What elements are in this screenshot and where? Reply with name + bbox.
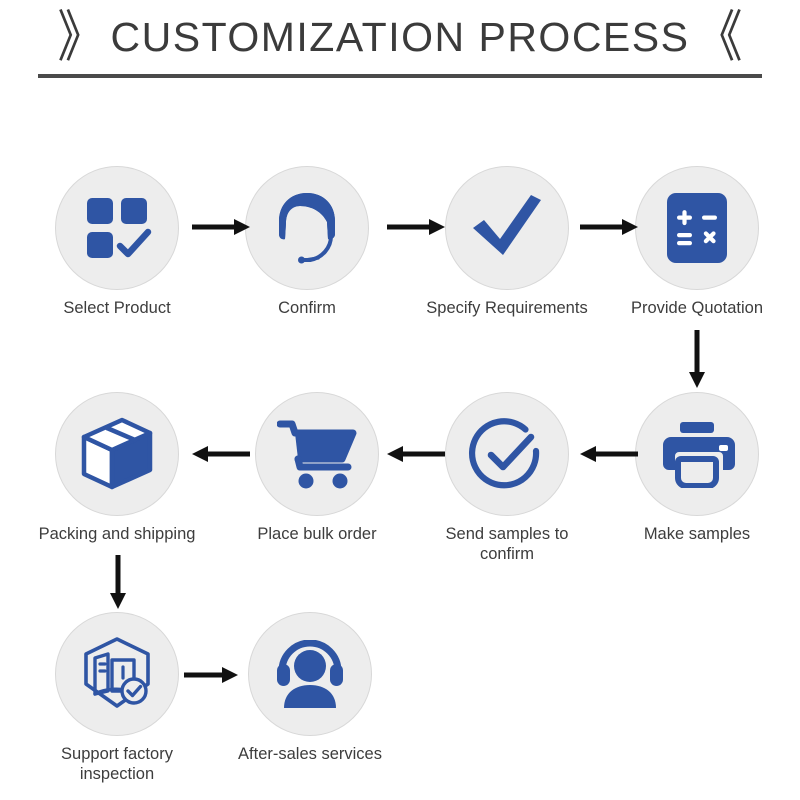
- arrow-step5-step6: [578, 443, 640, 465]
- step-label: Packing and shipping: [32, 524, 202, 544]
- step-label: After-sales services: [225, 744, 395, 764]
- arrow-step6-step7: [385, 443, 447, 465]
- step-badge: [635, 166, 759, 290]
- step-label: Support factory inspection: [32, 744, 202, 784]
- shopping-cart-icon: [277, 419, 357, 489]
- step-label: Select Product: [32, 298, 202, 318]
- step-badge: [55, 612, 179, 736]
- step-badge: [245, 166, 369, 290]
- circle-check-icon: [468, 415, 546, 493]
- checkmark-icon: [469, 192, 545, 264]
- step-badge: [55, 392, 179, 516]
- box-package-icon: [79, 416, 155, 492]
- factory-inspection-shield-icon: [78, 636, 156, 712]
- step-badge: [445, 166, 569, 290]
- printer-icon: [659, 420, 735, 488]
- arrow-step8-step9: [107, 553, 129, 611]
- process-step-make-samples[interactable]: Make samples: [612, 392, 782, 544]
- process-step-specify-requirements[interactable]: Specify Requirements: [422, 166, 592, 318]
- arrow-step1-step2: [190, 216, 252, 238]
- process-step-support-factory-inspection[interactable]: Support factory inspection: [32, 612, 202, 784]
- arrow-step2-step3: [385, 216, 447, 238]
- process-step-send-samples-to-confirm[interactable]: Send samples to confirm: [422, 392, 592, 564]
- step-label: Specify Requirements: [422, 298, 592, 318]
- process-flow: Select Product Confirm: [0, 0, 800, 800]
- process-step-provide-quotation[interactable]: Provide Quotation: [612, 166, 782, 318]
- arrow-step3-step4: [578, 216, 640, 238]
- arrow-step4-step5: [686, 328, 708, 390]
- calculator-icon: [665, 191, 729, 265]
- step-badge: [255, 392, 379, 516]
- step-label: Place bulk order: [232, 524, 402, 544]
- process-step-confirm[interactable]: Confirm: [222, 166, 392, 318]
- arrow-step7-step8: [190, 443, 252, 465]
- step-badge: [635, 392, 759, 516]
- step-badge: [55, 166, 179, 290]
- process-step-place-bulk-order[interactable]: Place bulk order: [232, 392, 402, 544]
- customization-process-infographic: 》 CUSTOMIZATION PROCESS 《 Select Product: [0, 0, 800, 800]
- step-label: Send samples to confirm: [422, 524, 592, 564]
- step-badge: [445, 392, 569, 516]
- process-step-select-product[interactable]: Select Product: [32, 166, 202, 318]
- step-badge: [248, 612, 372, 736]
- grid-check-icon: [81, 192, 153, 264]
- arrow-step9-step10: [182, 664, 240, 686]
- step-label: Make samples: [612, 524, 782, 544]
- process-step-after-sales-services[interactable]: After-sales services: [225, 612, 395, 764]
- step-label: Provide Quotation: [612, 298, 782, 318]
- step-label: Confirm: [222, 298, 392, 318]
- process-step-packing-and-shipping[interactable]: Packing and shipping: [32, 392, 202, 544]
- support-agent-icon: [272, 640, 348, 708]
- headset-operator-icon: [270, 190, 344, 266]
